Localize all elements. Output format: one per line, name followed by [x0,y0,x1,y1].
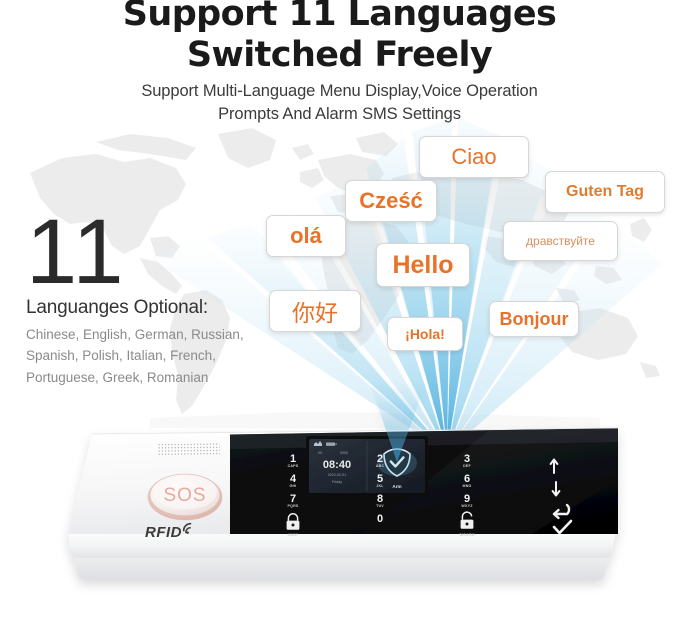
key-0[interactable]: 0 [377,513,383,525]
screen-status-right: 0000 [340,451,348,455]
marketing-banner: Support 11 Languages Switched Freely Sup… [0,0,679,642]
key-6-letters: MNO [463,484,472,488]
screen-time: 08:40 [323,459,351,471]
alarm-panel-device: SOS RFID [62,418,622,593]
bubble-polish: Cześć [345,180,437,222]
screen-arm-label: Arm [392,484,401,489]
key-2-letters: ABC [376,464,385,468]
bubble-german: Guten Tag [545,171,665,213]
bubble-chinese: 你好 [269,290,361,332]
bubble-italian: Ciao [419,136,529,178]
language-count: 11 [26,210,288,295]
key-4[interactable]: 4GHI [290,473,297,488]
key-away-label: AWAY [287,533,298,537]
key-3-letters: DEF [463,464,471,468]
key-8-letters: TUV [376,504,384,508]
key-disarm-label: DISARM [459,533,474,537]
key-9-letters: WXYZ [461,504,473,508]
title-line-2: Switched Freely [0,35,679,76]
speaker-grille [158,443,220,456]
bubble-french: Bonjour [489,301,579,337]
language-list-line-3: Portuguese, Greek, Romanian [26,367,288,389]
key-0-digit: 0 [377,513,383,525]
key-1-letters: CAPS [288,464,299,468]
page-title: Support 11 Languages Switched Freely [0,0,679,75]
screen-weekday: Friday [332,480,342,484]
page-subtitle: Support Multi-Language Menu Display,Voic… [0,80,679,127]
language-list-line-2: Spanish, Polish, Italian, French, [26,345,288,367]
bubble-english: Hello [376,243,470,287]
key-7-letters: PQRS [288,504,299,508]
key-5-letters: JKL [376,484,384,488]
screen-date: 2022-02-01 [328,473,346,477]
bubble-portuguese: olá [266,215,346,257]
language-summary-panel: 11 Languanges Optional: Chinese, English… [26,210,288,389]
screen-status-left: 00 [318,451,322,455]
language-list: Chinese, English, German, Russian, Spani… [26,324,288,390]
language-heading: Languanges Optional: [26,297,288,319]
key-4-letters: GHI [290,484,297,488]
subtitle-line-1: Support Multi-Language Menu Display,Voic… [0,80,679,103]
subtitle-line-2: Prompts And Alarm SMS Settings [0,103,679,126]
rfid-label: RFID [145,524,182,541]
bubble-russian: дравствуйте [503,221,618,261]
language-list-line-1: Chinese, English, German, Russian, [26,324,288,346]
title-line-1: Support 11 Languages [0,0,679,35]
bubble-spanish: ¡Hola! [387,317,463,351]
sos-button-label: SOS [163,485,206,506]
